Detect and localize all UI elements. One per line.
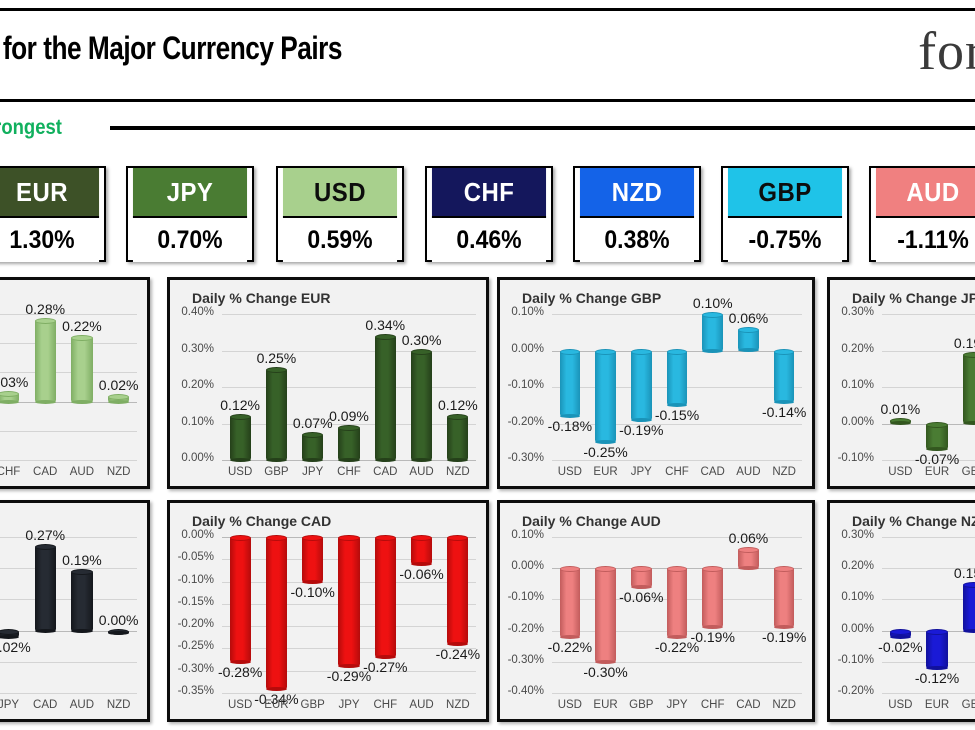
y-axis-tick-label: -0.30% — [500, 452, 544, 464]
bar-cap-top — [230, 414, 251, 420]
currency-code: GBP — [728, 168, 842, 218]
currency-code: JPY — [133, 168, 247, 218]
currency-code: NZD — [580, 168, 694, 218]
gridline — [222, 387, 476, 388]
bar-cap-bottom — [738, 348, 759, 352]
y-axis-tick-label: -0.30% — [170, 663, 214, 675]
bar-cap-bottom — [702, 349, 723, 353]
bar-value-label: -0.06% — [619, 589, 664, 605]
x-axis-category-label: NZD — [440, 466, 476, 478]
currency-change-value: -1.11% — [876, 218, 975, 262]
y-axis-tick-label: 0.10% — [830, 379, 874, 391]
bar-cap-bottom — [35, 400, 56, 404]
chart-panel-aud: Daily % Change AUD0.10%0.00%-0.10%-0.20%… — [497, 500, 815, 722]
bar-cap-top — [230, 535, 251, 541]
x-axis-category-label: CHF — [331, 466, 367, 478]
x-axis-category-label: USD — [222, 466, 258, 478]
bar-value-label: 0.06% — [726, 310, 771, 326]
bar-cap-bottom — [108, 631, 129, 635]
chart-bar — [302, 434, 323, 460]
x-axis-category-label: CAD — [731, 699, 767, 711]
bar-value-label: -0.02% — [0, 639, 31, 655]
y-axis-tick-label: -0.20% — [170, 618, 214, 630]
bar-value-label: -0.28% — [217, 664, 262, 680]
bar-value-label: -0.02% — [877, 639, 923, 655]
bar-cap-bottom — [338, 458, 359, 462]
bar-value-label: -0.15% — [655, 407, 700, 423]
chart-bar — [71, 337, 92, 401]
y-axis-tick-label: -0.10% — [500, 379, 544, 391]
x-axis-category-label: EUR — [919, 699, 956, 711]
chart-bar — [774, 568, 795, 627]
bar-cap-top — [338, 425, 359, 431]
chart-title: Daily % Change AUD — [522, 513, 661, 529]
x-axis-category-label: USD — [552, 699, 588, 711]
y-axis-tick-label: 0.10% — [170, 416, 214, 428]
x-axis-category-label: NZD — [766, 699, 802, 711]
chart-panel-cad: Daily % Change CAD0.00%-0.05%-0.10%-0.15… — [167, 500, 489, 722]
chart-bar — [375, 336, 396, 460]
chart-bar — [774, 351, 795, 402]
chart-bar — [631, 351, 652, 420]
y-axis-tick-label: 0.00% — [830, 416, 874, 428]
currency-change-value: 0.70% — [133, 218, 247, 262]
gridline — [222, 314, 476, 315]
bar-value-label: 0.02% — [96, 377, 142, 393]
y-axis-tick-label: -0.10% — [830, 654, 874, 666]
bar-cap-top — [631, 349, 652, 355]
currency-rank-box-usd: USD0.59% — [276, 166, 404, 262]
chart-bar — [963, 354, 975, 423]
chart-title: Daily % Change CAD — [192, 513, 331, 529]
y-axis-tick-label: 0.00% — [170, 452, 214, 464]
bar-cap-bottom — [266, 458, 287, 462]
bar-value-label: 0.19% — [951, 335, 975, 351]
x-axis-category-label: AUD — [64, 699, 101, 711]
chart-panel-chf: Daily % Change CHF0.30%0.20%0.10%0.00%-0… — [0, 500, 150, 722]
chart-bar — [738, 329, 759, 351]
y-axis-tick-label: -0.20% — [500, 416, 544, 428]
chart-panel-gbp: Daily % Change GBP0.10%0.00%-0.10%-0.20%… — [497, 277, 815, 489]
gridline — [552, 693, 802, 694]
currency-change-value: 0.38% — [580, 218, 694, 262]
x-axis-category-label: EUR — [919, 466, 956, 478]
bar-value-label: 0.00% — [96, 612, 142, 628]
x-axis-category-label: USD — [882, 466, 919, 478]
bar-value-label: 0.12% — [217, 397, 262, 413]
y-axis-tick-label: -0.20% — [500, 623, 544, 635]
bar-value-label: -0.19% — [762, 629, 807, 645]
x-axis-category-label: JPY — [623, 466, 659, 478]
bar-cap-bottom — [71, 629, 92, 633]
gridline — [552, 460, 802, 461]
bar-cap-bottom — [963, 421, 975, 425]
x-axis-category-label: AUD — [403, 699, 439, 711]
chart-bar — [560, 351, 581, 417]
bar-cap-bottom — [963, 629, 975, 633]
y-axis-tick-label: -0.10% — [830, 452, 874, 464]
bar-cap-bottom — [411, 458, 432, 462]
chart-bar — [375, 537, 396, 657]
chart-bar — [266, 369, 287, 460]
chart-bar — [338, 427, 359, 460]
currency-rank-box-nzd: NZD0.38% — [573, 166, 701, 262]
chart-panel-jpy: Daily % Change JPY0.30%0.20%0.10%0.00%-0… — [827, 277, 975, 489]
x-axis-category-label: NZD — [100, 466, 137, 478]
chart-bar — [926, 424, 947, 450]
y-axis-tick-label: 0.20% — [170, 379, 214, 391]
bar-cap-bottom — [890, 421, 911, 425]
x-axis-category-label: NZD — [100, 699, 137, 711]
currency-code: EUR — [0, 168, 99, 218]
chart-bar — [230, 537, 251, 662]
bar-value-label: 0.27% — [22, 527, 68, 543]
y-axis-tick-label: -0.15% — [170, 596, 214, 608]
bar-value-label: -0.27% — [363, 659, 408, 675]
bar-cap-top — [0, 629, 19, 635]
bar-cap-top — [774, 566, 795, 572]
y-axis-tick-label: -0.30% — [500, 654, 544, 666]
y-axis-tick-label: 0.30% — [830, 306, 874, 318]
gridline — [882, 314, 975, 315]
currency-change-value: 0.59% — [283, 218, 397, 262]
bar-value-label: 0.06% — [726, 530, 771, 546]
gridline — [0, 568, 137, 569]
bar-cap-top — [963, 352, 975, 358]
bar-cap-top — [667, 349, 688, 355]
x-axis-category-label: CHF — [0, 466, 27, 478]
currency-code: CHF — [432, 168, 546, 218]
y-axis-tick-label: 0.00% — [500, 560, 544, 572]
bar-value-label: -0.10% — [290, 584, 335, 600]
chart-title: Daily % Change GBP — [522, 290, 661, 306]
chart-bar — [702, 568, 723, 627]
strongest-label: trongest — [0, 116, 62, 140]
bar-cap-top — [411, 535, 432, 541]
bar-cap-top — [71, 335, 92, 341]
currency-rank-box-eur: EUR1.30% — [0, 166, 106, 262]
y-axis-tick-label: 0.20% — [830, 343, 874, 355]
chart-bar — [595, 351, 616, 442]
bar-cap-bottom — [230, 458, 251, 462]
x-axis-category-label: AUD — [403, 466, 439, 478]
bar-value-label: 0.01% — [877, 401, 923, 417]
bar-value-label: 0.12% — [435, 397, 480, 413]
chart-bar — [702, 314, 723, 351]
chart-panel-nzd: Daily % Change NZD0.30%0.20%0.10%0.00%-0… — [827, 500, 975, 722]
chart-bar — [108, 631, 129, 633]
currency-change-value: 0.46% — [432, 218, 546, 262]
chart-bar — [35, 546, 56, 630]
dashboard-page: e for the Major Currency Pairs fore tron… — [0, 0, 975, 730]
currency-change-value: -0.75% — [728, 218, 842, 262]
chart-bar — [338, 537, 359, 666]
bar-value-label: 0.09% — [326, 408, 371, 424]
bar-cap-top — [631, 566, 652, 572]
bar-cap-top — [667, 566, 688, 572]
bar-cap-top — [702, 566, 723, 572]
chart-panel-eur: Daily % Change EUR0.40%0.30%0.20%0.10%0.… — [167, 277, 489, 489]
bar-value-label: -0.19% — [619, 422, 664, 438]
x-axis-category-label: CAD — [695, 466, 731, 478]
chart-bar — [631, 568, 652, 587]
bar-cap-bottom — [302, 458, 323, 462]
bar-cap-top — [595, 349, 616, 355]
x-axis-category-label: AUD — [731, 466, 767, 478]
chart-bar — [890, 420, 911, 424]
bar-cap-bottom — [108, 400, 129, 404]
x-axis-category-label: JPY — [295, 466, 331, 478]
page-title: e for the Major Currency Pairs — [0, 30, 408, 67]
currency-code: AUD — [876, 168, 975, 218]
bar-cap-top — [890, 629, 911, 635]
chart-bar — [108, 396, 129, 402]
x-axis-category-label: CAD — [27, 699, 64, 711]
chart-bar — [447, 416, 468, 460]
bar-value-label: -0.25% — [583, 444, 628, 460]
gridline — [882, 387, 975, 388]
bar-value-label: 0.25% — [254, 350, 299, 366]
x-axis-category-label: JPY — [0, 699, 27, 711]
bar-cap-top — [774, 349, 795, 355]
bar-cap-bottom — [738, 566, 759, 570]
x-axis-category-label: GBP — [295, 699, 331, 711]
bar-cap-top — [375, 334, 396, 340]
bar-cap-top — [302, 535, 323, 541]
bar-value-label: -0.06% — [399, 566, 444, 582]
chart-bar — [71, 571, 92, 630]
y-axis-tick-label: -0.20% — [830, 685, 874, 697]
gridline — [882, 693, 975, 694]
bar-cap-top — [71, 569, 92, 575]
chart-bar — [411, 537, 432, 564]
bar-value-label: -0.18% — [548, 418, 593, 434]
chart-bar — [926, 631, 947, 668]
gridline — [0, 693, 137, 694]
bar-value-label: 0.15% — [951, 565, 975, 581]
x-axis-category-label: EUR — [588, 699, 624, 711]
x-axis-category-label: GBP — [623, 699, 659, 711]
bar-value-label: -0.24% — [435, 646, 480, 662]
y-axis-tick-label: -0.05% — [170, 551, 214, 563]
gridline — [0, 314, 137, 315]
x-axis-category-label: CHF — [659, 466, 695, 478]
x-axis-category-label: AUD — [64, 466, 101, 478]
bar-value-label: -0.14% — [762, 404, 807, 420]
bar-cap-bottom — [0, 400, 19, 404]
x-axis-category-label: GBP — [955, 466, 975, 478]
chart-bar — [560, 568, 581, 637]
bar-value-label: -0.19% — [690, 629, 735, 645]
gridline — [0, 343, 137, 344]
chart-bar — [963, 584, 975, 631]
y-axis-tick-label: 0.40% — [170, 306, 214, 318]
gridline — [882, 537, 975, 538]
currency-rank-box-aud: AUD-1.11% — [869, 166, 975, 262]
x-axis-category-label: USD — [882, 699, 919, 711]
chart-bar — [595, 568, 616, 662]
chart-bar — [667, 568, 688, 637]
y-axis-tick-label: -0.35% — [170, 685, 214, 697]
chart-panel-usd: Daily % Change USD0.30%0.20%0.10%0.00%-0… — [0, 277, 150, 489]
chart-bar — [266, 537, 287, 689]
gridline — [0, 662, 137, 663]
chart-title: Daily % Change NZD — [852, 513, 975, 529]
bar-value-label: 0.19% — [59, 552, 105, 568]
chart-bar — [667, 351, 688, 406]
chart-bar — [890, 631, 911, 637]
bar-cap-top — [738, 327, 759, 333]
bar-cap-top — [926, 629, 947, 635]
y-axis-tick-label: 0.00% — [170, 529, 214, 541]
bar-cap-top — [266, 367, 287, 373]
x-axis-category-label: GBP — [955, 699, 975, 711]
chart-bar — [35, 320, 56, 402]
bar-cap-top — [338, 535, 359, 541]
bar-cap-top — [35, 318, 56, 324]
bar-cap-top — [447, 535, 468, 541]
x-axis-category-label: NZD — [766, 466, 802, 478]
bar-cap-top — [560, 349, 581, 355]
x-axis-category-label: GBP — [258, 466, 294, 478]
gridline — [0, 431, 137, 432]
brand-logo: fore — [918, 20, 975, 82]
bar-cap-top — [0, 391, 19, 397]
y-axis-tick-label: 0.00% — [830, 623, 874, 635]
y-axis-tick-label: 0.20% — [830, 560, 874, 572]
y-axis-tick-label: -0.10% — [500, 591, 544, 603]
bar-cap-top — [595, 566, 616, 572]
bar-value-label: -0.12% — [914, 670, 960, 686]
currency-rank-box-jpy: JPY0.70% — [126, 166, 254, 262]
bar-value-label: 0.03% — [0, 374, 31, 390]
x-axis-category-label: EUR — [258, 699, 294, 711]
bar-cap-top — [560, 566, 581, 572]
strongest-rule — [110, 126, 975, 130]
y-axis-tick-label: 0.10% — [830, 591, 874, 603]
y-axis-tick-label: 0.10% — [500, 529, 544, 541]
bar-cap-top — [411, 349, 432, 355]
bar-value-label: 0.22% — [59, 318, 105, 334]
y-axis-tick-label: 0.10% — [500, 306, 544, 318]
x-axis-category-label: JPY — [659, 699, 695, 711]
y-axis-tick-label: 0.00% — [500, 343, 544, 355]
x-axis-category-label: CAD — [367, 466, 403, 478]
x-axis-category-label: NZD — [440, 699, 476, 711]
bar-value-label: 0.30% — [399, 332, 444, 348]
chart-title: Daily % Change EUR — [192, 290, 330, 306]
bar-cap-bottom — [447, 458, 468, 462]
chart-bar — [0, 631, 19, 637]
bar-cap-bottom — [71, 400, 92, 404]
x-axis-category-label: JPY — [331, 699, 367, 711]
bar-cap-top — [266, 535, 287, 541]
chart-bar — [230, 416, 251, 460]
gridline — [882, 599, 975, 600]
y-axis-tick-label: -0.10% — [170, 574, 214, 586]
chart-bar — [447, 537, 468, 644]
y-axis-tick-label: 0.30% — [830, 529, 874, 541]
x-axis-category-label: USD — [552, 466, 588, 478]
currency-change-value: 1.30% — [0, 218, 99, 262]
gridline — [0, 599, 137, 600]
chart-bar — [302, 537, 323, 582]
gridline — [0, 537, 137, 538]
x-axis-category-label: CHF — [695, 699, 731, 711]
bar-cap-bottom — [35, 629, 56, 633]
chart-bar — [738, 549, 759, 568]
chart-bar — [0, 393, 19, 402]
currency-rank-box-chf: CHF0.46% — [425, 166, 553, 262]
chart-bar — [411, 351, 432, 461]
gridline — [552, 662, 802, 663]
x-axis-category-label: CHF — [367, 699, 403, 711]
bar-value-label: -0.22% — [548, 639, 593, 655]
y-axis-tick-label: -0.40% — [500, 685, 544, 697]
y-axis-tick-label: -0.25% — [170, 640, 214, 652]
bar-cap-top — [447, 414, 468, 420]
bar-value-label: -0.07% — [914, 451, 960, 467]
chart-title: Daily % Change JPY — [852, 290, 975, 306]
gridline — [0, 460, 137, 461]
bar-value-label: 0.10% — [690, 295, 735, 311]
bar-cap-top — [375, 535, 396, 541]
bar-cap-top — [963, 582, 975, 588]
bar-value-label: 0.34% — [363, 317, 408, 333]
bar-cap-bottom — [375, 458, 396, 462]
bar-cap-top — [302, 432, 323, 438]
bar-value-label: 0.28% — [22, 301, 68, 317]
bar-value-label: -0.30% — [583, 664, 628, 680]
x-axis-category-label: EUR — [588, 466, 624, 478]
bar-cap-top — [926, 422, 947, 428]
bar-cap-top — [35, 544, 56, 550]
x-axis-category-label: CAD — [27, 466, 64, 478]
currency-rank-box-gbp: GBP-0.75% — [721, 166, 849, 262]
bar-cap-top — [702, 312, 723, 318]
y-axis-tick-label: 0.30% — [170, 343, 214, 355]
header-top-rule — [0, 8, 975, 11]
header-bottom-rule — [0, 99, 975, 102]
currency-code: USD — [283, 168, 397, 218]
bar-cap-top — [738, 547, 759, 553]
bar-cap-top — [108, 394, 129, 400]
